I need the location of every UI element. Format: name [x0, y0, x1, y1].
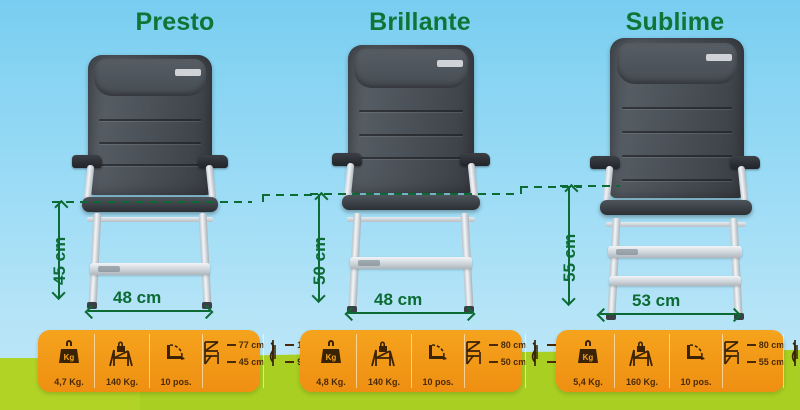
seam — [99, 142, 201, 144]
spec-dimensions: 80 cm 55 cm — [722, 334, 783, 388]
backrest — [348, 45, 474, 193]
spec-back-height-value: 80 cm — [501, 340, 527, 350]
chair-max-load-icon — [370, 336, 398, 370]
seam — [622, 179, 732, 181]
leg-front-right — [729, 218, 742, 316]
seam — [359, 110, 462, 112]
seat-frame-bar — [347, 217, 475, 222]
lower-crossbar-2 — [609, 276, 741, 286]
leg-front-left — [89, 213, 102, 305]
spec-max-load: 140 Kg. — [94, 334, 149, 388]
spec-seat-height: 55 cm — [747, 357, 785, 367]
weight-block-kg-icon: Kg — [319, 336, 343, 370]
seat-cushion — [82, 197, 218, 212]
head-pad — [354, 49, 467, 87]
spec-panel-brillante: Kg 4,8 Kg. 140 Kg. 10 pos. 80 cm 50 cm — [300, 330, 522, 392]
backrest — [610, 38, 744, 198]
head-pad — [617, 43, 738, 85]
spec-positions: 10 pos. — [669, 334, 722, 388]
seat-cushion — [600, 200, 752, 215]
dash — [747, 344, 756, 346]
backrest — [88, 55, 212, 195]
chair-side-dimensions-icon — [464, 340, 486, 366]
spec-max-load: 140 Kg. — [356, 334, 411, 388]
seat-cushion — [342, 195, 480, 210]
seam — [359, 134, 462, 136]
leg-front-left — [607, 218, 620, 316]
folded-chair-dimensions-icon — [788, 339, 800, 367]
dash — [227, 344, 236, 346]
seam — [622, 131, 732, 133]
spec-max-load-value: 160 Kg. — [615, 377, 669, 387]
spec-weight-value: 4,7 Kg. — [44, 377, 94, 387]
dash — [227, 361, 236, 363]
seat-height-label-sublime: 55 cm — [560, 234, 580, 282]
dash — [747, 361, 756, 363]
spec-back-height: 80 cm — [747, 340, 785, 350]
width-dimension-presto — [88, 310, 210, 312]
comparison-graphic: Presto Brillante Sublime 45 cm 48 cm — [0, 0, 800, 410]
spec-back-height-value: 80 cm — [759, 340, 785, 350]
spec-weight: Kg 5,4 Kg. — [562, 334, 614, 388]
spec-positions-value: 10 pos. — [670, 377, 722, 387]
spec-folded: 115 cm 9,5 cm — [783, 334, 800, 388]
lower-crossbar — [608, 246, 742, 258]
chair-max-load-icon — [108, 336, 136, 370]
seat-height-leader-step-brillante — [262, 194, 264, 203]
seam — [622, 107, 732, 109]
crossbar-brand — [616, 249, 638, 255]
spec-max-load-value: 140 Kg. — [357, 377, 411, 387]
spec-seat-height-value: 55 cm — [759, 357, 785, 367]
spec-max-load: 160 Kg. — [614, 334, 669, 388]
spec-positions-value: 10 pos. — [412, 377, 464, 387]
spec-back-height: 80 cm — [489, 340, 527, 350]
brand-logo — [175, 69, 201, 76]
spec-positions: 10 pos. — [411, 334, 464, 388]
spec-weight-value: 4,8 Kg. — [306, 377, 356, 387]
armrest-right — [198, 155, 228, 168]
dash — [489, 344, 498, 346]
seat-height-label-presto: 45 cm — [50, 237, 70, 285]
head-pad — [94, 59, 206, 95]
armrest-right — [460, 153, 490, 166]
chair-presto — [60, 55, 240, 305]
width-label-brillante: 48 cm — [374, 290, 422, 310]
spec-seat-height: 50 cm — [489, 357, 527, 367]
width-dimension-brillante — [348, 312, 472, 314]
armrest-right — [730, 156, 760, 169]
spec-max-load-value: 140 Kg. — [95, 377, 149, 387]
seam — [359, 157, 462, 159]
spec-dimensions: 80 cm 50 cm — [464, 334, 525, 388]
recline-positions-icon — [425, 336, 451, 370]
spec-dimensions: 77 cm 45 cm — [202, 334, 263, 388]
recline-positions-icon — [683, 336, 709, 370]
chair-sublime — [580, 38, 772, 314]
chair-brillante — [320, 45, 500, 307]
brand-logo — [706, 54, 732, 61]
svg-text:Kg: Kg — [326, 353, 337, 362]
seat-frame-bar — [87, 217, 213, 222]
svg-text:Kg: Kg — [583, 353, 594, 362]
width-label-presto: 48 cm — [113, 288, 161, 308]
dash — [489, 361, 498, 363]
chair-max-load-icon — [628, 336, 656, 370]
recline-positions-icon — [163, 336, 189, 370]
lower-crossbar — [350, 257, 472, 269]
spec-back-height-value: 77 cm — [239, 340, 265, 350]
seam — [622, 155, 732, 157]
spec-panel-sublime: Kg 5,4 Kg. 160 Kg. 10 pos. 80 cm 55 cm — [556, 330, 784, 392]
spec-positions-value: 10 pos. — [150, 377, 202, 387]
spec-positions: 10 pos. — [149, 334, 202, 388]
spec-weight-value: 5,4 Kg. — [562, 377, 614, 387]
width-label-sublime: 53 cm — [632, 291, 680, 311]
seat-height-leader-brillante-2 — [310, 193, 516, 195]
spec-weight: Kg 4,7 Kg. — [44, 334, 94, 388]
width-dimension-sublime — [600, 313, 738, 315]
crossbar-brand — [98, 266, 120, 272]
seam — [99, 119, 201, 121]
chair-side-dimensions-icon — [202, 340, 224, 366]
brand-logo — [437, 60, 463, 67]
armrest-left — [590, 156, 620, 169]
weight-block-kg-icon: Kg — [576, 336, 600, 370]
dash — [285, 344, 294, 346]
folded-chair-dimensions-icon — [528, 339, 544, 367]
folded-chair-dimensions-icon — [266, 339, 282, 367]
weight-block-kg-icon: Kg — [57, 336, 81, 370]
seat-height-label-brillante: 50 cm — [310, 237, 330, 285]
chair-side-dimensions-icon — [722, 340, 744, 366]
seat-height-leader-step-sublime — [520, 186, 522, 194]
lower-crossbar — [90, 263, 210, 275]
dash — [285, 361, 294, 363]
spec-seat-height-value: 50 cm — [501, 357, 527, 367]
spec-back-height: 77 cm — [227, 340, 265, 350]
seam — [99, 164, 201, 166]
spec-seat-height-value: 45 cm — [239, 357, 265, 367]
spec-seat-height: 45 cm — [227, 357, 265, 367]
seat-height-leader-presto — [52, 201, 252, 203]
crossbar-brand — [358, 260, 380, 266]
leg-front-right — [199, 213, 212, 305]
product-title-brillante: Brillante — [340, 8, 500, 37]
spec-panel-presto: Kg 4,7 Kg. 140 Kg. 10 pos. 77 cm 45 cm — [38, 330, 260, 392]
product-title-sublime: Sublime — [600, 8, 750, 37]
svg-text:Kg: Kg — [64, 353, 75, 362]
seat-frame-bar — [606, 222, 746, 227]
spec-weight: Kg 4,8 Kg. — [306, 334, 356, 388]
product-title-presto: Presto — [110, 8, 240, 37]
